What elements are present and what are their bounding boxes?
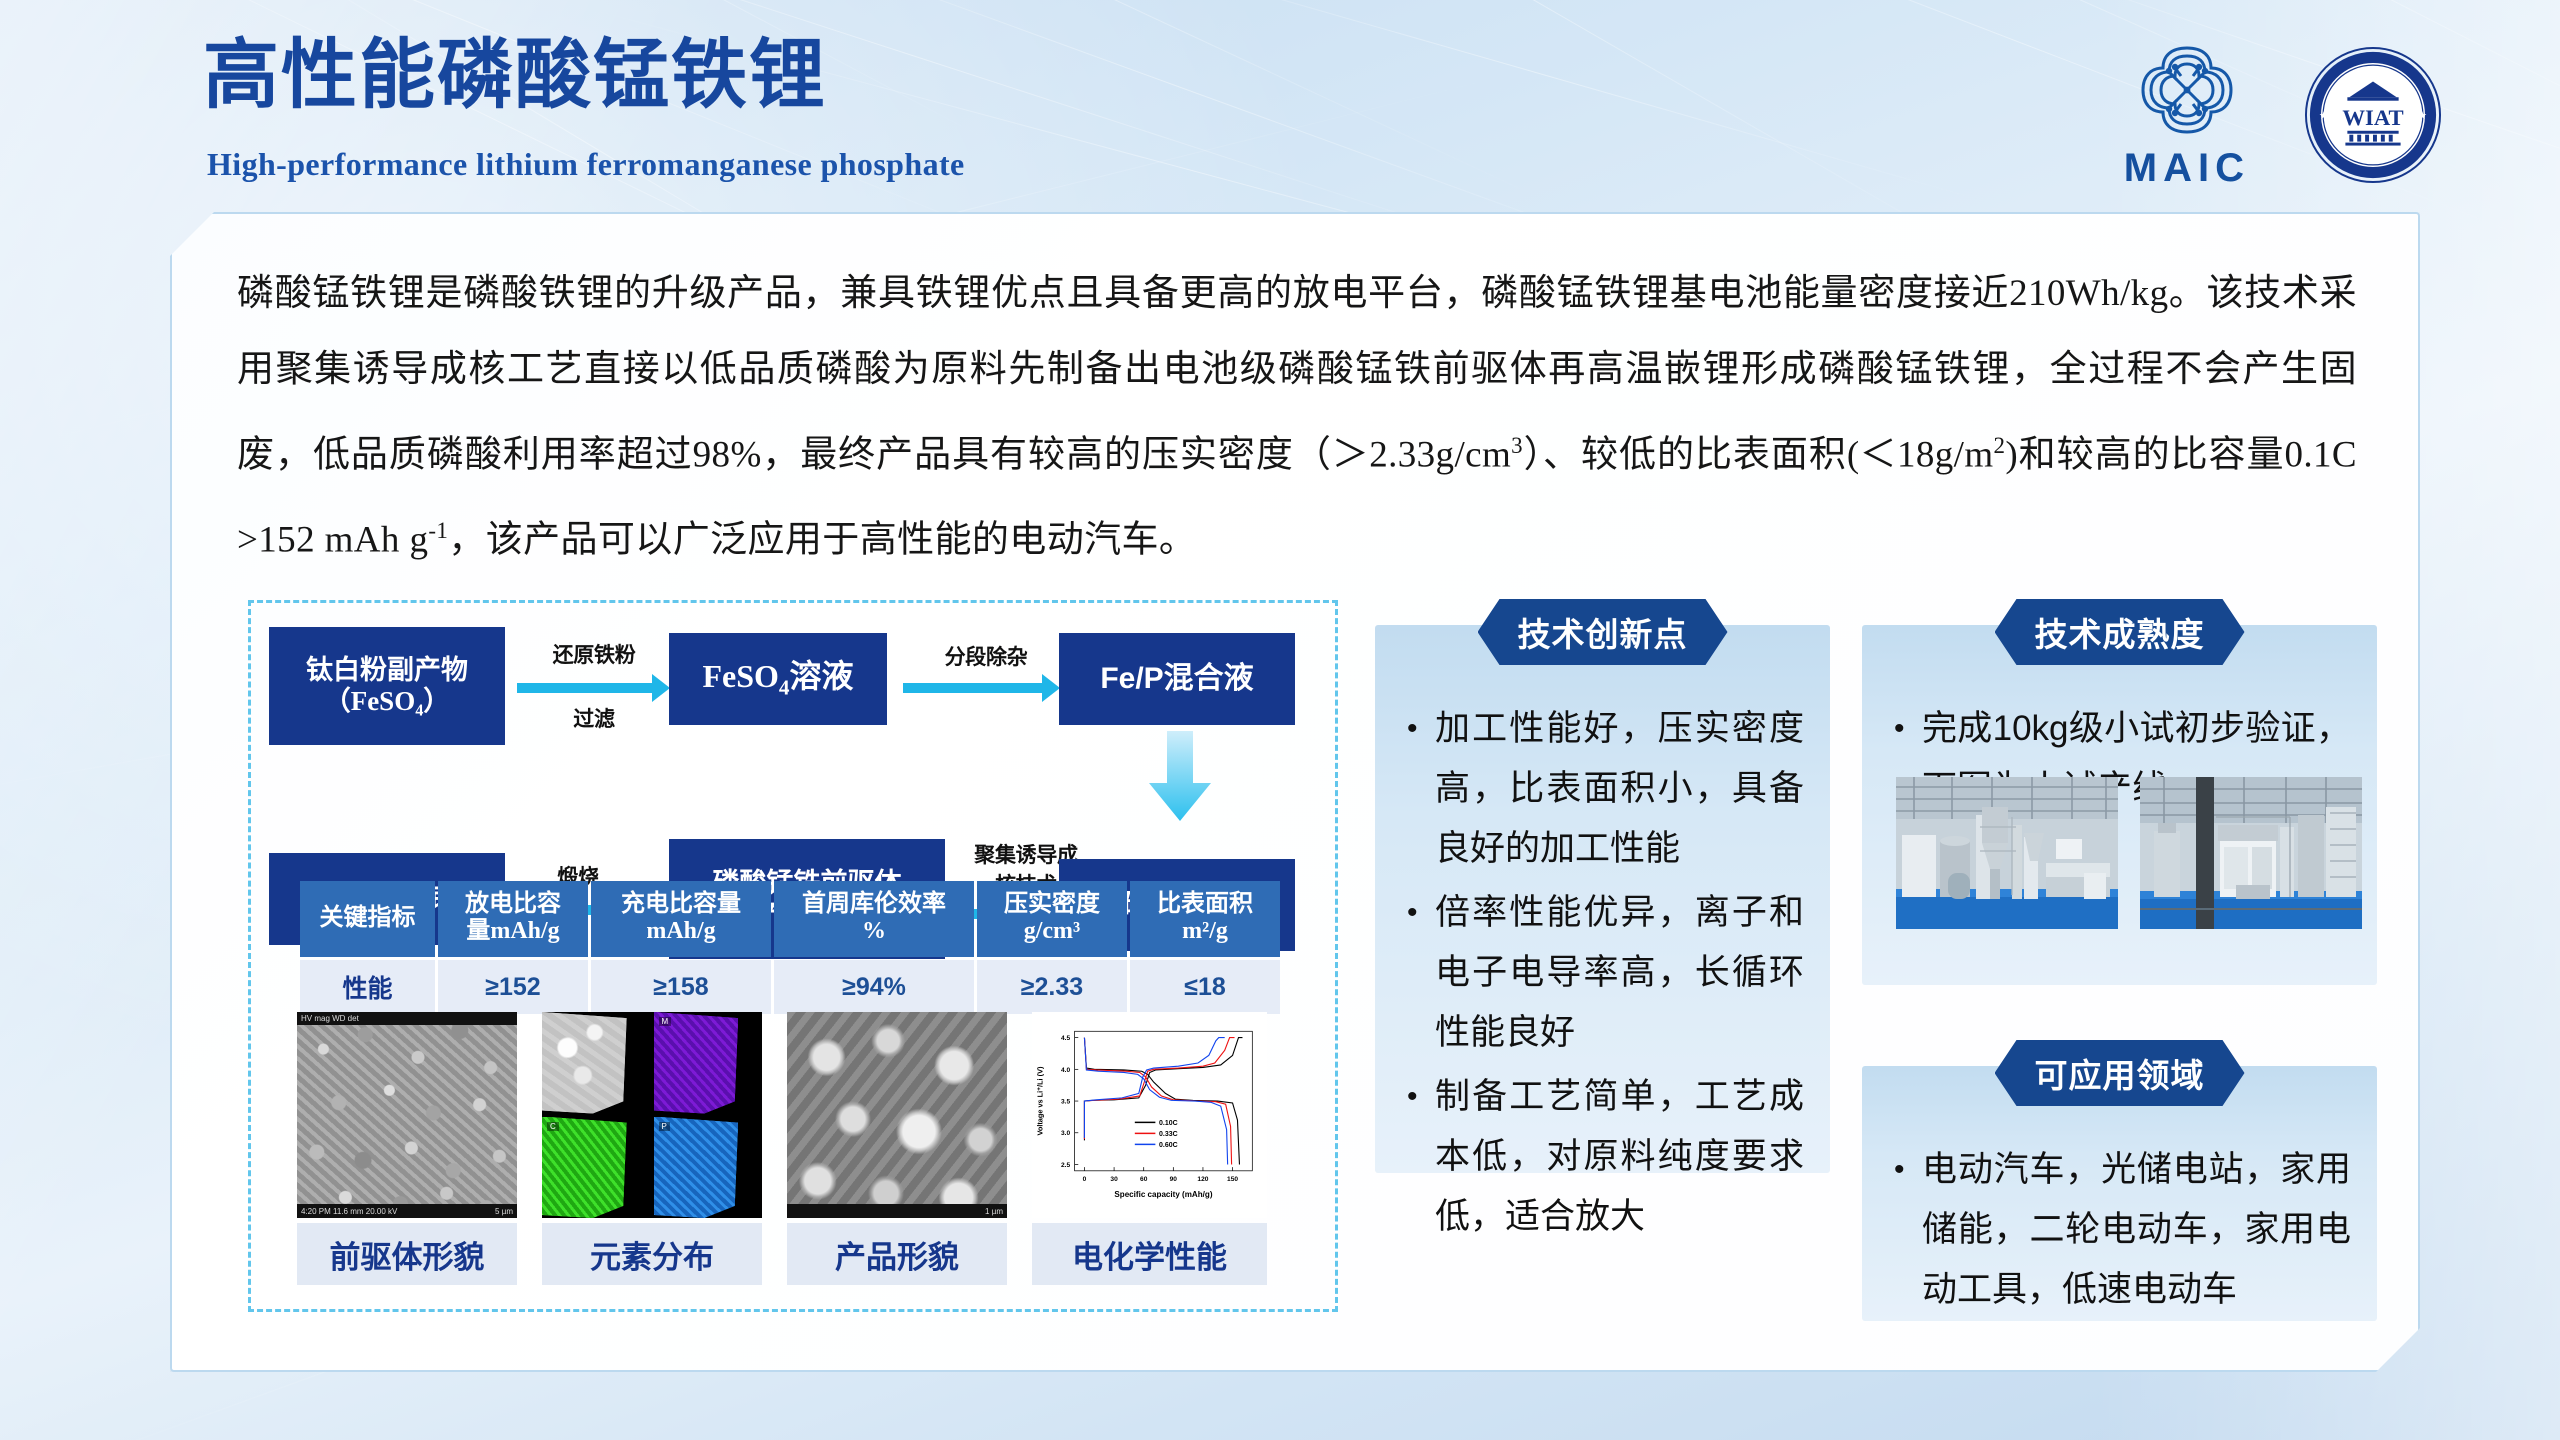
svg-text:0.10C: 0.10C [1159,1120,1178,1127]
pilot-line-photo-1 [1896,777,2118,929]
list-item: 加工性能好，压实密度高，比表面积小，具备良好的加工性能 [1405,699,1804,879]
image-caption: 前驱体形貌 [297,1223,517,1285]
svg-text:150: 150 [1227,1176,1238,1183]
list-item: 制备工艺简单，工艺成本低，对原料纯度要求低，适合放大 [1405,1067,1804,1247]
key-metrics-table: 关键指标 放电比容 量mAh/g 充电比容量 mAh/g 首周库伦效率 % 压实… [297,878,1283,1017]
charge-discharge-chart: 2.53.03.54.04.50306090120150Specific cap… [1032,1012,1267,1218]
table-cell: ≥94% [774,960,974,1014]
table-header-cell: 放电比容 量mAh/g [438,881,588,957]
flow-label-stepwise-impurity-removal: 分段除杂 [901,645,1071,671]
svg-text:0: 0 [1083,1176,1087,1183]
th-main: 首周库伦效率 [776,891,972,918]
image-caption: 电化学性能 [1032,1223,1267,1285]
panel-badge-innovation: 技术创新点 [1478,599,1728,665]
eds-mask [542,1117,627,1219]
table-header-cell: 关键指标 [300,881,435,957]
factory-illustration [1896,777,2118,929]
svg-text:3.0: 3.0 [1061,1130,1070,1137]
svg-text:0.33C: 0.33C [1159,1131,1178,1138]
svg-text:90: 90 [1170,1176,1178,1183]
svg-text:30: 30 [1110,1176,1118,1183]
image-cell-elements: M C P 元素分布 [542,1012,762,1302]
maic-logo-text: MAIC [2124,146,2250,191]
image-caption: 产品形貌 [787,1223,1007,1285]
flow-node-feso4-solution[interactable]: FeSO4溶液 [669,633,887,725]
eds-quadrant-fe: C [542,1117,651,1219]
factory-illustration [2140,777,2362,929]
sem-top-bar: HV mag WD det [297,1012,517,1025]
flow-label-reduction-iron-powder: 还原铁粉 [519,643,669,669]
table-header-cell: 充电比容量 mAh/g [591,881,771,957]
electrochemistry-chart-image: 2.53.03.54.04.50306090120150Specific cap… [1032,1012,1267,1218]
sem-product-image: 1 µm [787,1012,1007,1218]
flow-arrow-1 [517,683,653,693]
chart-svg: 2.53.03.54.04.50306090120150Specific cap… [1032,1012,1267,1218]
svg-text:Voltage vs Li⁺/Li (V): Voltage vs Li⁺/Li (V) [1035,1066,1044,1135]
panel-bullets-innovation: 加工性能好，压实密度高，比表面积小，具备良好的加工性能 倍率性能优异，离子和电子… [1405,699,1804,1251]
eds-quadrants: M C P [542,1012,762,1218]
sem-scale-bar: 4:20 PM 11.6 mm 20.00 kV 5 µm [297,1204,517,1218]
svg-text:4.0: 4.0 [1061,1067,1070,1074]
eds-tag: C [547,1122,559,1131]
image-caption: 元素分布 [542,1223,762,1285]
sem-meta-text: HV mag WD det [301,1014,359,1023]
svg-text:60: 60 [1140,1176,1148,1183]
svg-text:3.5: 3.5 [1061,1099,1070,1106]
sem-texture [297,1012,517,1218]
wiat-seal-icon: 武汉中科先进材料科技有限公司 WUHAN R&D INSTITUTE OF AD… [2304,46,2442,184]
image-cell-precursor: HV mag WD det 4:20 PM 11.6 mm 20.00 kV 5… [297,1012,517,1302]
table-row: 性能 ≥152 ≥158 ≥94% ≥2.33 ≤18 [300,960,1280,1014]
table-cell: ≥152 [438,960,588,1014]
panel-maturity: 技术成熟度 完成10kg级小试初步验证，下图为小试产线 [1862,625,2377,985]
th-unit: mAh/g [593,918,769,945]
table-cell: 性能 [300,960,435,1014]
svg-text:4.5: 4.5 [1061,1035,1070,1042]
svg-text:120: 120 [1197,1176,1208,1183]
th-main: 比表面积 [1132,891,1278,918]
table-header-cell: 首周库伦效率 % [774,881,974,957]
characterization-image-strip: HV mag WD det 4:20 PM 11.6 mm 20.00 kV 5… [297,1012,1267,1302]
pilot-line-photos [1896,777,2362,929]
flow-node-label: Fe/P混合液 [1100,662,1253,697]
panel-bullets-applications: 电动汽车，光储电站，家用储能，二轮电动车，家用电动工具，低速电动车 [1892,1140,2351,1324]
wiat-logo-text: WIAT [2342,104,2403,129]
flow-arrow-down-thick [1147,731,1213,823]
image-cell-electrochemistry: 2.53.03.54.04.50306090120150Specific cap… [1032,1012,1267,1302]
flow-node-fep-mixture[interactable]: Fe/P混合液 [1059,633,1295,725]
table-cell: ≤18 [1130,960,1280,1014]
panel-innovation: 技术创新点 加工性能好，压实密度高，比表面积小，具备良好的加工性能 倍率性能优异… [1375,625,1830,1173]
image-cell-product: 1 µm 产品形貌 [787,1012,1007,1302]
eds-quadrant-mn: M [654,1012,763,1114]
list-item: 倍率性能优异，离子和电子电导率高，长循环性能良好 [1405,883,1804,1063]
th-main: 充电比容量 [593,891,769,918]
flow-node-line2: （FeSO₄） [324,686,451,717]
eds-tag: P [659,1122,670,1131]
sem-scalebar-label: 5 µm [495,1207,513,1216]
svg-text:Specific capacity (mAh/g): Specific capacity (mAh/g) [1114,1190,1212,1199]
eds-mask [542,1012,627,1114]
eds-element-map-image: M C P [542,1012,762,1218]
table-header-cell: 比表面积 m²/g [1130,881,1280,957]
th-main: 关键指标 [302,905,433,932]
eds-mask [654,1117,739,1219]
th-main: 压实密度 [979,891,1125,918]
svg-text:★: ★ [2319,109,2329,121]
slide-header: 高性能磷酸锰铁锂 High-performance lithium ferrom… [0,0,2560,225]
th-unit: % [776,918,972,945]
flow-node-label: FeSO4溶液 [702,658,853,700]
list-item: 电动汽车，光储电站，家用储能，二轮电动车，家用电动工具，低速电动车 [1892,1140,2351,1320]
th-unit: m²/g [1132,918,1278,945]
panel-applications: 可应用领域 电动汽车，光储电站，家用储能，二轮电动车，家用电动工具，低速电动车 [1862,1066,2377,1321]
sem-scale-bar: 1 µm [787,1204,1007,1218]
svg-text:0.60C: 0.60C [1159,1142,1178,1149]
eds-quadrant-sem [542,1012,651,1114]
table-header-cell: 压实密度 g/cm³ [977,881,1127,957]
eds-tag: M [659,1017,672,1026]
sem-precursor-image: HV mag WD det 4:20 PM 11.6 mm 20.00 kV 5… [297,1012,517,1218]
pilot-line-photo-2 [2140,777,2362,929]
eds-mask [654,1012,739,1114]
table-cell: ≥158 [591,960,771,1014]
table-header-row: 关键指标 放电比容 量mAh/g 充电比容量 mAh/g 首周库伦效率 % 压实… [300,881,1280,957]
sem-meta-text: 4:20 PM 11.6 mm 20.00 kV [301,1207,397,1216]
flow-arrow-2 [903,683,1043,693]
panel-badge-maturity: 技术成熟度 [1995,599,2245,665]
th-unit: g/cm³ [979,918,1125,945]
maic-logo: MAIC [2124,38,2250,191]
th-unit: 量mAh/g [440,918,586,945]
maic-logo-icon [2131,38,2243,142]
flow-label-filtration: 过滤 [519,707,669,733]
flow-node-titanium-byproduct[interactable]: 钛白粉副产物 （FeSO₄） [269,627,505,745]
eds-quadrant-p: P [654,1117,763,1219]
svg-text:2.5: 2.5 [1061,1162,1070,1169]
sem-scalebar-label: 1 µm [985,1207,1003,1216]
page-subtitle: High-performance lithium ferromanganese … [207,146,965,183]
logo-group: MAIC 武汉中科先进材料科技有限公司 WUHAN R&D INSTITUTE … [2124,38,2442,191]
svg-text:★: ★ [2417,109,2427,121]
panel-badge-applications: 可应用领域 [1995,1040,2245,1106]
th-main: 放电比容 [440,891,586,918]
page-title: 高性能磷酸锰铁锂 [203,36,827,116]
intro-paragraph: 磷酸锰铁锂是磷酸铁锂的升级产品，兼具铁锂优点且具备更高的放电平台，磷酸锰铁锂基电… [237,256,2357,579]
sem-texture [787,1012,1007,1218]
flow-node-line1: 钛白粉副产物 [306,655,468,686]
table-cell: ≥2.33 [977,960,1127,1014]
